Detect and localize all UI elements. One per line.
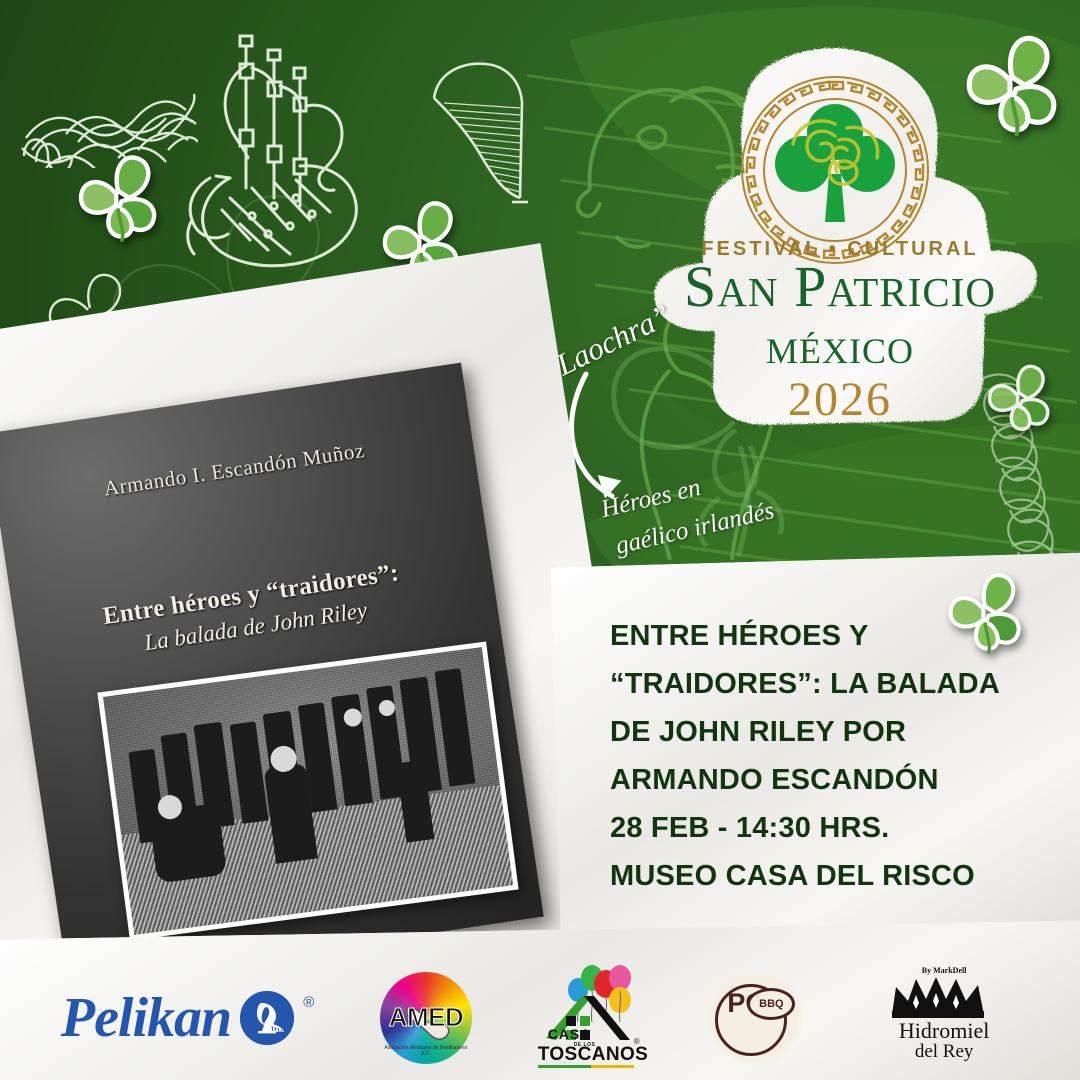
event-line-5: 28 FEB - 14:30 HRS. <box>610 804 1080 852</box>
festival-name-line2: méxico <box>640 317 1040 376</box>
event-line-4: ARMANDO ESCANDÓN <box>610 756 1080 804</box>
bbq-label: BBQ <box>759 998 783 1010</box>
pelikan-registered-mark: ® <box>303 994 314 1011</box>
book-cover-photo-image <box>103 647 513 935</box>
pelican-icon <box>240 991 294 1045</box>
poster-canvas: FESTIVAL • CULTURAL San Patricio méxico … <box>0 0 1080 1080</box>
toscanos-word-casa: CASA <box>548 1026 592 1042</box>
event-line-2: “TRAIDORES”: LA BALADA <box>610 660 1080 708</box>
hidromiel-by-label: By MarkDell <box>869 966 1019 975</box>
bbq-badge: BBQ <box>747 988 795 1020</box>
amed-wordmark: AMED <box>389 1002 464 1033</box>
event-details: ENTRE HÉROES Y “TRAIDORES”: LA BALADA DE… <box>610 612 1080 900</box>
sponsor-logo-pelikan[interactable]: Pelikan ® <box>61 990 314 1046</box>
event-line-1: ENTRE HÉROES Y <box>610 612 1080 660</box>
festival-name-line1: San Patricio <box>640 257 1040 318</box>
toscanos-word-toscanos: TOSCANOS <box>538 1044 649 1066</box>
sponsor-logo-amed[interactable]: AMED Asociación Mexicana de Destiladores… <box>380 972 472 1064</box>
sponsor-logos: Pelikan ® AM <box>0 955 1080 1080</box>
event-line-3: DE JOHN RILEY POR <box>610 708 1080 756</box>
festival-badge: FESTIVAL • CULTURAL San Patricio méxico … <box>640 42 1040 432</box>
sponsor-logo-pgbbq[interactable]: PG BBQ <box>707 970 803 1066</box>
amed-subtitle: Asociación Mexicana de Destiladores A.C. <box>380 1045 472 1057</box>
harp-icon <box>428 58 528 208</box>
crown-icon <box>888 975 1000 1019</box>
hidromiel-word2: del Rey <box>915 1041 974 1062</box>
hidromiel-word-line1: Hidromiel <box>869 1020 1019 1042</box>
hidromiel-word-line2: del Rey <box>869 1042 1019 1062</box>
event-line-6: MUSEO CASA DEL RISCO <box>610 852 1080 900</box>
pelikan-wordmark: Pelikan <box>61 990 231 1046</box>
sponsor-logo-toscanos[interactable]: CASA DE LOS TOSCANOS ® <box>538 968 642 1068</box>
toscanos-registered-mark: ® <box>634 1037 640 1046</box>
hidromiel-word1: Hidromiel <box>899 1018 989 1043</box>
book-cover-photo <box>97 641 518 940</box>
sponsor-logo-hidromiel[interactable]: By MarkDell Hidromiel del Rey <box>869 966 1019 1070</box>
toscanos-underline <box>538 1065 634 1068</box>
clover-sticker-icon <box>74 150 162 242</box>
festival-year: 2026 <box>640 372 1040 427</box>
